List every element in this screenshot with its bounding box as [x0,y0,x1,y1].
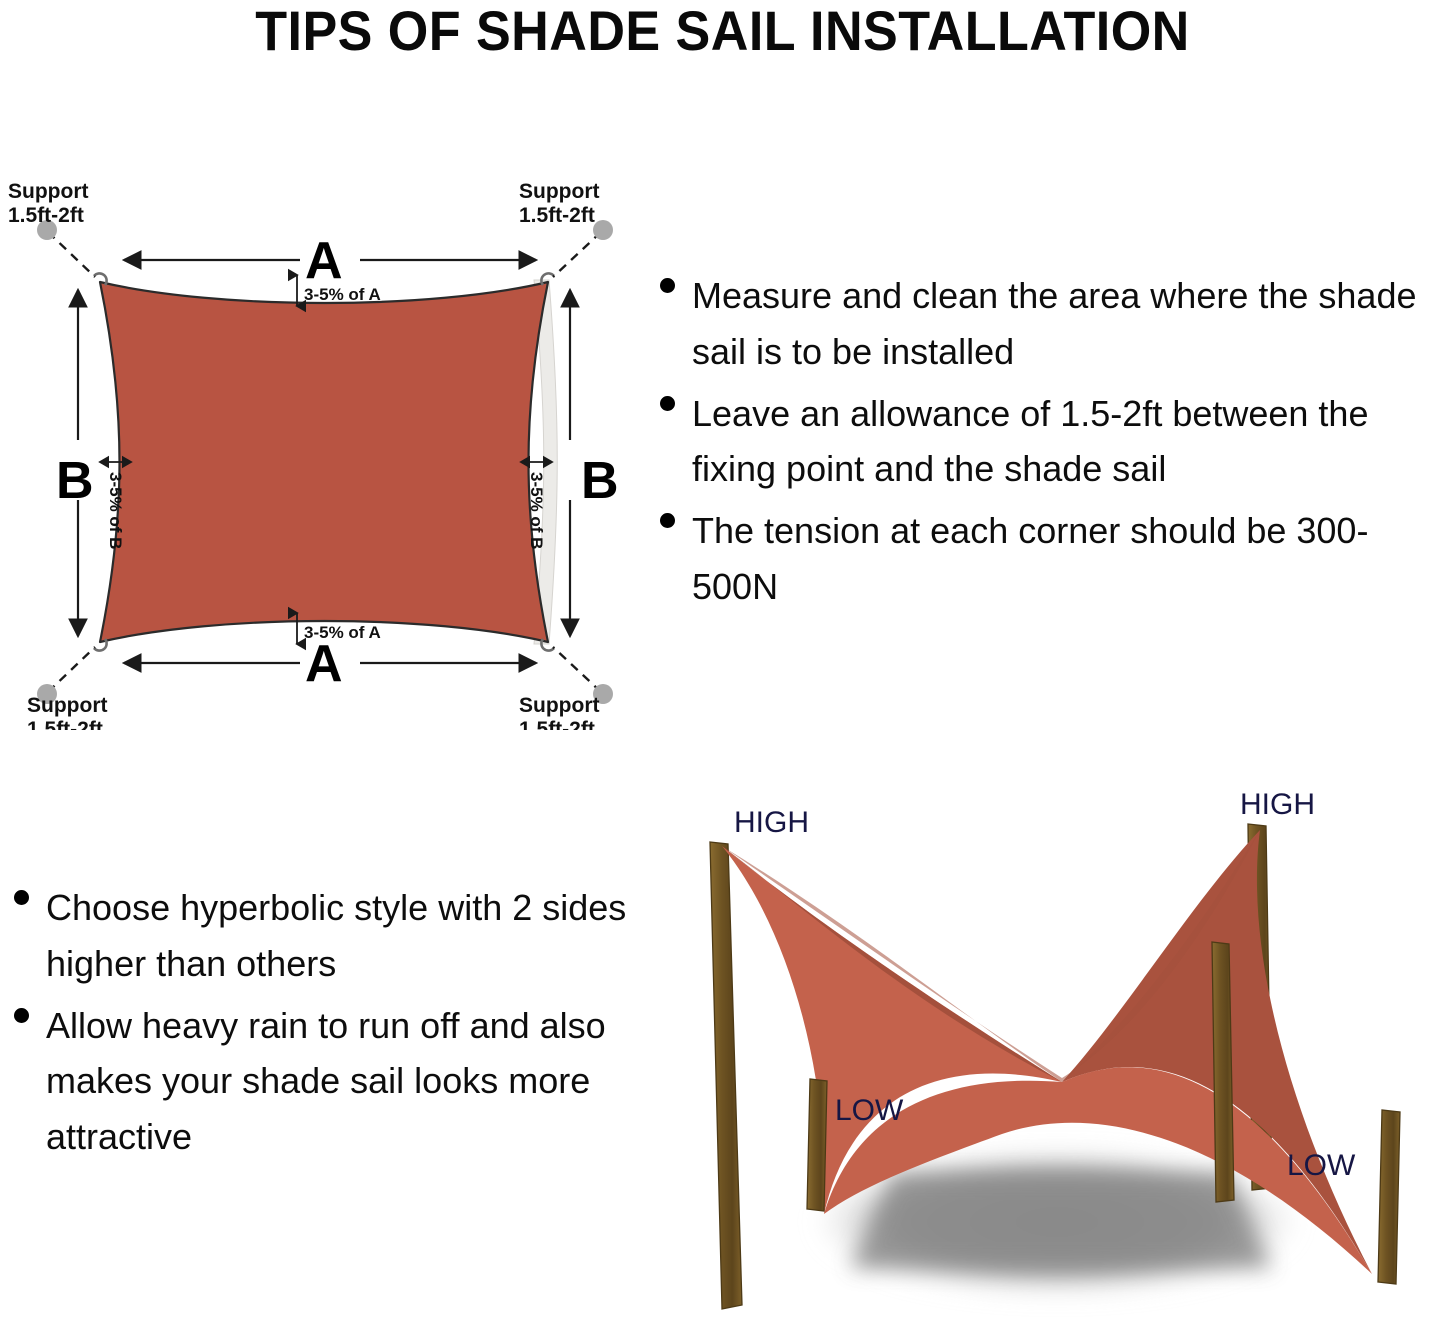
anchor-top-left [37,220,95,277]
support-label-line2: 1.5ft-2ft [519,204,595,227]
dimension-letter-a-bottom: A [305,635,343,693]
support-label-bottom-left: Support 1.5ft-2ft [27,694,107,730]
benefit-text: Allow heavy rain to run off and also mak… [46,998,640,1165]
rectangular-sail-diagram: Support 1.5ft-2ft Support 1.5ft-2ft Supp… [0,150,660,730]
dimension-letter-b-left: B [56,452,94,510]
support-label-line1: Support [519,180,599,203]
support-label-line1: Support [27,694,107,717]
post-mid-foreground [1212,942,1234,1202]
sag-label-b-left: 3-5% of B [106,472,125,549]
support-label-line1: Support [519,694,599,717]
support-label-bottom-right: Support 1.5ft-2ft [519,694,599,730]
dimension-letter-b-right: B [581,452,619,510]
support-label-top-right: Support 1.5ft-2ft [519,180,599,227]
infographic-page: TIPS OF SHADE SAIL INSTALLATION [0,0,1445,1319]
tip-text: The tension at each corner should be 300… [692,503,1445,615]
support-label-line2: 1.5ft-2ft [519,718,595,730]
list-item: The tension at each corner should be 300… [646,503,1445,615]
dimension-a-top: A [124,232,536,290]
dimension-b-right: B [570,290,619,636]
tip-text: Measure and clean the area where the sha… [692,268,1445,380]
hypar-foreground-posts [672,782,1445,1319]
page-title: TIPS OF SHADE SAIL INSTALLATION [51,0,1395,62]
support-label-line1: Support [8,180,88,203]
hyperbolic-benefits-list: Choose hyperbolic style with 2 sides hig… [0,880,640,1171]
list-item: Choose hyperbolic style with 2 sides hig… [0,880,640,992]
sag-label-a-top: 3-5% of A [304,285,381,304]
list-item: Leave an allowance of 1.5-2ft between th… [646,386,1445,498]
dimension-a-bottom: A [124,635,536,693]
sag-label-a-bottom: 3-5% of A [304,623,381,642]
support-label-line2: 1.5ft-2ft [27,718,103,730]
dimension-letter-a-top: A [305,232,343,290]
shade-sail-shape [100,282,548,642]
tip-text: Leave an allowance of 1.5-2ft between th… [692,386,1445,498]
anchor-top-right [553,220,613,277]
support-label-top-left: Support 1.5ft-2ft [8,180,88,227]
installation-tips-list: Measure and clean the area where the sha… [646,268,1445,621]
benefit-text: Choose hyperbolic style with 2 sides hig… [46,880,640,992]
list-item: Allow heavy rain to run off and also mak… [0,998,640,1165]
sag-label-b-right: 3-5% of B [527,472,546,549]
support-label-line2: 1.5ft-2ft [8,204,84,227]
list-item: Measure and clean the area where the sha… [646,268,1445,380]
dimension-b-left: B [56,290,94,636]
